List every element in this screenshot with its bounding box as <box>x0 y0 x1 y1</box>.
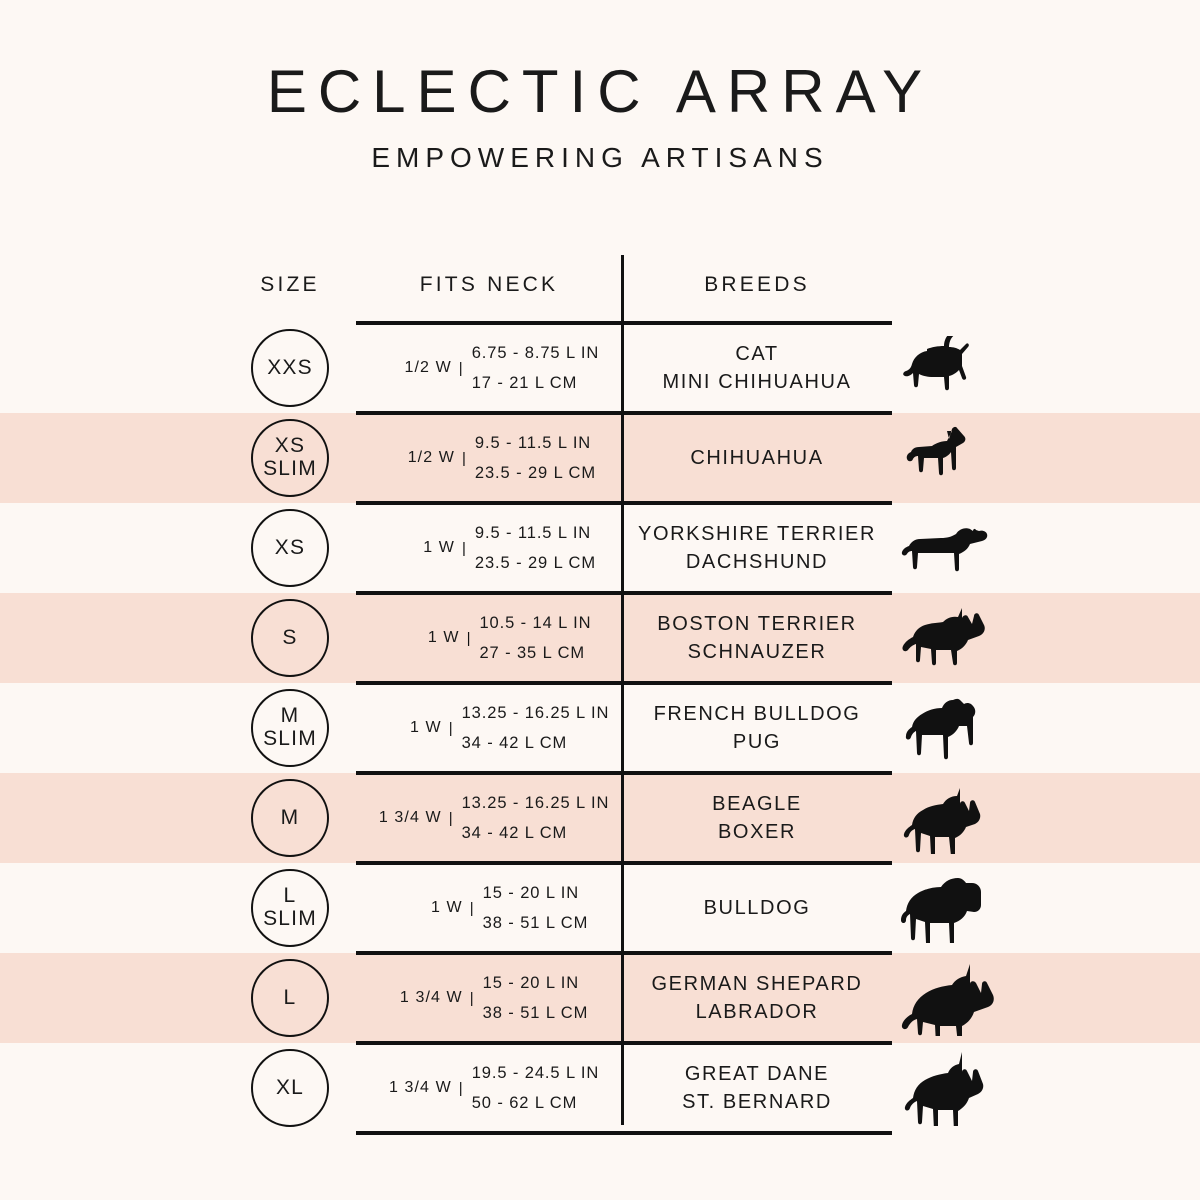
neck-separator: | <box>467 630 471 647</box>
size-badge: XXS <box>251 329 329 407</box>
column-header-breeds: BREEDS <box>622 273 892 297</box>
size-cell: XXS <box>230 323 350 413</box>
neck-separator: | <box>470 990 474 1007</box>
table-row: L SLIM1 W|15 - 20 L IN38 - 51 L CMBULLDO… <box>0 863 1200 953</box>
neck-width-value: 1 3/4 W <box>378 1079 452 1097</box>
table-row: M1 3/4 W|13.25 - 16.25 L IN34 - 42 L CMB… <box>0 773 1200 863</box>
neck-length-cm: 38 - 51 L CM <box>483 914 589 933</box>
neck-length-inches: 10.5 - 14 L IN <box>479 614 591 633</box>
pug-silhouette-icon <box>900 683 1060 773</box>
fits-neck-cell: 1 3/4 W|15 - 20 L IN38 - 51 L CM <box>356 953 621 1043</box>
neck-length-cm: 27 - 35 L CM <box>479 644 591 663</box>
size-chart-table: SIZE FITS NECK BREEDS XXS1/2 W|6.75 - 8.… <box>0 255 1200 1130</box>
breeds-value: CAT MINI CHIHUAHUA <box>662 340 851 397</box>
breeds-cell: BEAGLE BOXER <box>622 773 892 863</box>
breeds-value: BULLDOG <box>704 894 811 922</box>
breeds-cell: CHIHUAHUA <box>622 413 892 503</box>
breeds-cell: YORKSHIRE TERRIER DACHSHUND <box>622 503 892 593</box>
neck-length-inches: 13.25 - 16.25 L IN <box>462 794 610 813</box>
breeds-cell: BOSTON TERRIER SCHNAUZER <box>622 593 892 683</box>
neck-separator: | <box>470 900 474 917</box>
neck-length-inches: 9.5 - 11.5 L IN <box>475 434 596 453</box>
neck-length-inches: 9.5 - 11.5 L IN <box>475 524 596 543</box>
neck-separator: | <box>462 540 466 557</box>
neck-separator: | <box>449 720 453 737</box>
size-badge: L <box>251 959 329 1037</box>
breeds-cell: CAT MINI CHIHUAHUA <box>622 323 892 413</box>
size-badge: XS <box>251 509 329 587</box>
neck-length-inches: 13.25 - 16.25 L IN <box>462 704 610 723</box>
breeds-value: CHIHUAHUA <box>690 444 823 472</box>
neck-length-inches: 19.5 - 24.5 L IN <box>472 1064 600 1083</box>
fits-neck-cell: 1 W|13.25 - 16.25 L IN34 - 42 L CM <box>356 683 621 773</box>
neck-width-value: 1 W <box>386 629 460 647</box>
neck-width-value: 1 W <box>381 539 455 557</box>
size-cell: S <box>230 593 350 683</box>
size-cell: XS SLIM <box>230 413 350 503</box>
size-cell: M <box>230 773 350 863</box>
fits-neck-cell: 1 W|15 - 20 L IN38 - 51 L CM <box>356 863 621 953</box>
neck-width-value: 1 3/4 W <box>389 989 463 1007</box>
neck-length-cm: 23.5 - 29 L CM <box>475 554 596 573</box>
table-row: XXS1/2 W|6.75 - 8.75 L IN17 - 21 L CMCAT… <box>0 323 1200 413</box>
breeds-value: BEAGLE BOXER <box>712 790 802 847</box>
size-badge: S <box>251 599 329 677</box>
breeds-value: GREAT DANE ST. BERNARD <box>682 1060 832 1117</box>
fits-neck-cell: 1 3/4 W|19.5 - 24.5 L IN50 - 62 L CM <box>356 1043 621 1133</box>
german-shepherd-silhouette-icon <box>900 953 1060 1043</box>
size-cell: XL <box>230 1043 350 1133</box>
neck-width-value: 1 3/4 W <box>368 809 442 827</box>
size-cell: L SLIM <box>230 863 350 953</box>
breeds-value: BOSTON TERRIER SCHNAUZER <box>657 610 856 667</box>
breeds-cell: BULLDOG <box>622 863 892 953</box>
breeds-value: FRENCH BULLDOG PUG <box>654 700 861 757</box>
neck-separator: | <box>459 360 463 377</box>
neck-width-value: 1 W <box>389 899 463 917</box>
table-row: M SLIM1 W|13.25 - 16.25 L IN34 - 42 L CM… <box>0 683 1200 773</box>
table-row: S1 W|10.5 - 14 L IN27 - 35 L CMBOSTON TE… <box>0 593 1200 683</box>
breeds-cell: GERMAN SHEPARD LABRADOR <box>622 953 892 1043</box>
neck-length-cm: 34 - 42 L CM <box>462 734 610 753</box>
fits-neck-cell: 1/2 W|9.5 - 11.5 L IN23.5 - 29 L CM <box>356 413 621 503</box>
size-cell: L <box>230 953 350 1043</box>
table-row: XS1 W|9.5 - 11.5 L IN23.5 - 29 L CMYORKS… <box>0 503 1200 593</box>
schnauzer-silhouette-icon <box>900 593 1060 683</box>
neck-length-cm: 34 - 42 L CM <box>462 824 610 843</box>
size-cell: M SLIM <box>230 683 350 773</box>
size-badge: L SLIM <box>251 869 329 947</box>
size-badge: XS SLIM <box>251 419 329 497</box>
boxer-silhouette-icon <box>900 773 1060 863</box>
page-title: ECLECTIC ARRAY <box>0 62 1200 122</box>
size-badge: M SLIM <box>251 689 329 767</box>
breeds-value: YORKSHIRE TERRIER DACHSHUND <box>638 520 876 577</box>
neck-separator: | <box>449 810 453 827</box>
fits-neck-cell: 1 3/4 W|13.25 - 16.25 L IN34 - 42 L CM <box>356 773 621 863</box>
breeds-cell: FRENCH BULLDOG PUG <box>622 683 892 773</box>
neck-length-inches: 15 - 20 L IN <box>483 884 589 903</box>
neck-length-cm: 23.5 - 29 L CM <box>475 464 596 483</box>
neck-length-inches: 15 - 20 L IN <box>483 974 589 993</box>
neck-width-value: 1/2 W <box>378 359 452 377</box>
table-row: XL1 3/4 W|19.5 - 24.5 L IN50 - 62 L CMGR… <box>0 1043 1200 1133</box>
neck-width-value: 1 W <box>368 719 442 737</box>
size-badge: M <box>251 779 329 857</box>
fits-neck-cell: 1/2 W|6.75 - 8.75 L IN17 - 21 L CM <box>356 323 621 413</box>
column-header-row: SIZE FITS NECK BREEDS <box>0 255 1200 320</box>
breeds-value: GERMAN SHEPARD LABRADOR <box>652 970 863 1027</box>
column-header-size: SIZE <box>230 273 350 297</box>
size-cell: XS <box>230 503 350 593</box>
neck-length-inches: 6.75 - 8.75 L IN <box>472 344 600 363</box>
page-subtitle: EMPOWERING ARTISANS <box>0 144 1200 172</box>
neck-length-cm: 38 - 51 L CM <box>483 1004 589 1023</box>
neck-length-cm: 50 - 62 L CM <box>472 1094 600 1113</box>
size-badge: XL <box>251 1049 329 1127</box>
neck-width-value: 1/2 W <box>381 449 455 467</box>
table-row: L1 3/4 W|15 - 20 L IN38 - 51 L CMGERMAN … <box>0 953 1200 1043</box>
fits-neck-cell: 1 W|10.5 - 14 L IN27 - 35 L CM <box>356 593 621 683</box>
chihuahua-silhouette-icon <box>900 413 1060 503</box>
fits-neck-cell: 1 W|9.5 - 11.5 L IN23.5 - 29 L CM <box>356 503 621 593</box>
dachshund-silhouette-icon <box>900 503 1060 593</box>
breeds-cell: GREAT DANE ST. BERNARD <box>622 1043 892 1133</box>
bulldog-silhouette-icon <box>900 863 1060 953</box>
brand-header: ECLECTIC ARRAY EMPOWERING ARTISANS <box>0 62 1200 172</box>
column-header-neck: FITS NECK <box>356 273 622 297</box>
neck-separator: | <box>459 1080 463 1097</box>
neck-length-cm: 17 - 21 L CM <box>472 374 600 393</box>
cat-silhouette-icon <box>900 323 1060 413</box>
table-row: XS SLIM1/2 W|9.5 - 11.5 L IN23.5 - 29 L … <box>0 413 1200 503</box>
great-dane-silhouette-icon <box>900 1043 1060 1133</box>
neck-separator: | <box>462 450 466 467</box>
